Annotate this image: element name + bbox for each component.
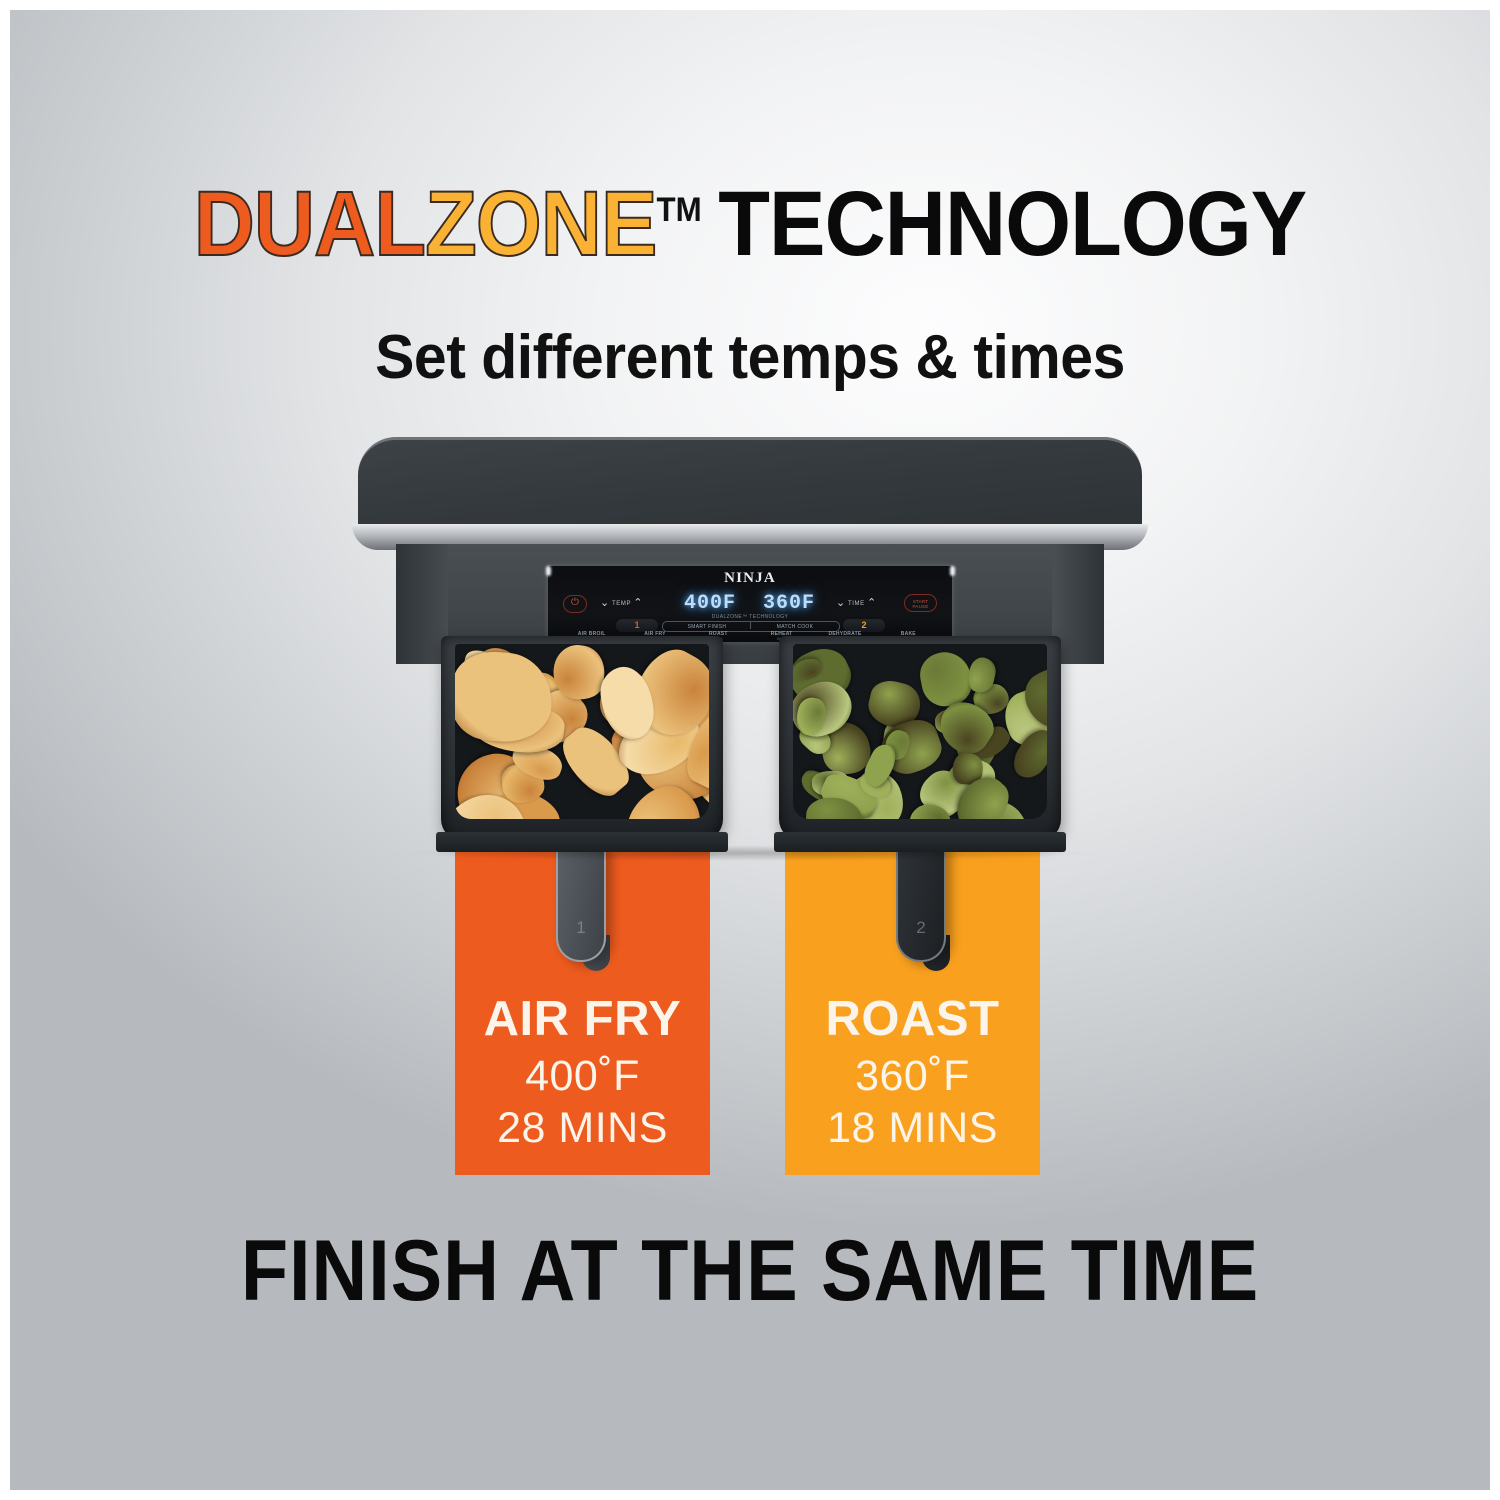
start-pause-button[interactable]: START PAUSE <box>904 594 937 612</box>
ninja-brand-logo: NINJA <box>548 570 952 587</box>
pause-label: PAUSE <box>905 604 936 609</box>
card-title: ROAST <box>785 995 1040 1045</box>
basket-1-interior <box>455 644 709 819</box>
basket-zone-1[interactable] <box>441 636 723 841</box>
brussels-sprouts-food <box>793 644 1047 819</box>
card-time: 28 MINS <box>455 1103 710 1155</box>
smart-finish-mode[interactable]: SMART FINISH <box>663 624 751 630</box>
handle-number: 2 <box>898 918 944 938</box>
dualzone-tech-label: DUALZONE™ TECHNOLOGY <box>660 614 840 620</box>
zone2-temperature-display: 360F <box>763 592 815 615</box>
footer-headline: FINISH AT THE SAME TIME <box>75 1222 1425 1321</box>
time-label: TIME <box>848 601 865 607</box>
power-button[interactable]: ⏻ <box>563 595 587 613</box>
drawer-front-1 <box>436 832 728 852</box>
trademark-symbol: TM <box>657 191 702 229</box>
page-title: DUALZONETMTECHNOLOGY <box>60 178 1440 270</box>
mode-divider <box>750 622 751 629</box>
temp-control-group[interactable]: ⌄ TEMP ⌃ <box>600 596 643 609</box>
handle-number: 1 <box>558 918 604 938</box>
chicken-wings-food <box>455 644 709 819</box>
promo-image: DUALZONETMTECHNOLOGY Set different temps… <box>0 0 1500 1500</box>
zone1-temperature-display: 400F <box>684 592 736 615</box>
match-cook-mode[interactable]: MATCH COOK <box>751 624 839 630</box>
headline-zone: ZONE <box>425 173 656 275</box>
time-increase-icon[interactable]: ⌃ <box>867 597 877 609</box>
time-decrease-icon[interactable]: ⌄ <box>836 597 846 609</box>
temp-increase-icon[interactable]: ⌃ <box>633 597 643 609</box>
headline-technology: TECHNOLOGY <box>718 173 1306 275</box>
drawer-front-2 <box>774 832 1066 852</box>
temp-label: TEMP <box>612 601 631 607</box>
card-time: 18 MINS <box>785 1103 1040 1155</box>
temp-decrease-icon[interactable]: ⌄ <box>600 597 610 609</box>
card-temperature: 360˚F <box>785 1051 1040 1103</box>
basket-handle-1[interactable]: 1 <box>556 845 606 962</box>
basket-2-interior <box>793 644 1047 819</box>
basket-handle-2[interactable]: 2 <box>896 845 946 962</box>
subtitle: Set different temps & times <box>38 322 1463 393</box>
time-control-group[interactable]: ⌄ TIME ⌃ <box>836 596 877 609</box>
card-title: AIR FRY <box>455 995 710 1045</box>
card-temperature: 400˚F <box>455 1051 710 1103</box>
headline-dual: DUAL <box>194 173 425 275</box>
basket-zone-2[interactable] <box>779 636 1061 841</box>
